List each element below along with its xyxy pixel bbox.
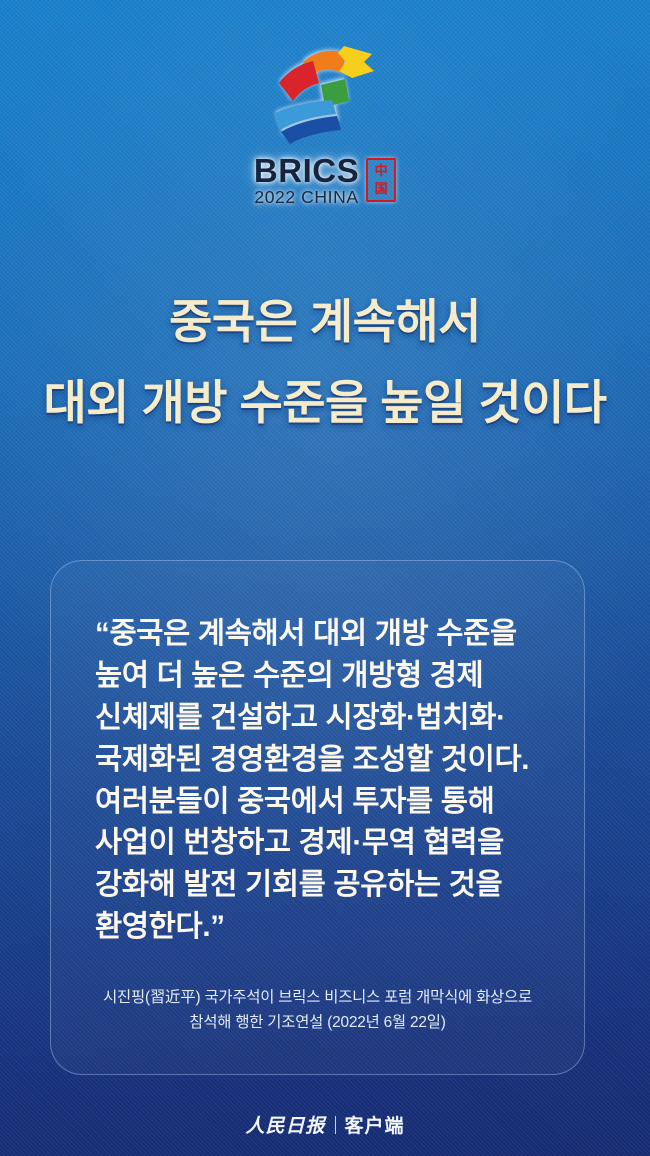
brics-logo: BRICS 2022 CHINA 中 国	[0, 40, 650, 207]
quote-card: “중국은 계속해서 대외 개방 수준을 높여 더 높은 수준의 개방형 경제 신…	[50, 560, 585, 1075]
brics-wordmark-main: BRICS	[254, 154, 359, 187]
quote-attribution-line-2: 참석해 행한 기조연설 (2022년 6월 22일)	[73, 1011, 562, 1036]
headline: 중국은 계속해서 대외 개방 수준을 높일 것이다	[0, 282, 650, 444]
quote-line: 여러분들이 중국에서 투자를 통해	[95, 781, 540, 823]
china-seal-icon: 中 国	[366, 158, 396, 202]
quote-line: 환영한다.”	[95, 906, 540, 948]
quote-attribution: 시진핑(習近平) 국가주석이 브릭스 비즈니스 포럼 개막식에 화상으로 참석해…	[73, 986, 562, 1036]
quote-line: 높여 더 높은 수준의 개방형 경제	[95, 655, 540, 697]
headline-line-1: 중국은 계속해서	[0, 282, 650, 363]
quote-line: 사업이 번창하고 경제·무역 협력을	[95, 822, 540, 864]
china-seal-char-bottom: 国	[375, 183, 388, 196]
quote-line: “중국은 계속해서 대외 개방 수준을	[95, 613, 540, 655]
poster-root: BRICS 2022 CHINA 中 国 중국은 계속해서 대외 개방 수준을 …	[0, 0, 650, 1156]
quote-line: 강화해 발전 기회를 공유하는 것을	[95, 864, 540, 906]
quote-text: “중국은 계속해서 대외 개방 수준을 높여 더 높은 수준의 개방형 경제 신…	[51, 613, 584, 948]
quote-line: 신체제를 건설하고 시장화·법치화·	[95, 697, 540, 739]
headline-line-2: 대외 개방 수준을 높일 것이다	[0, 363, 650, 444]
quote-line: 국제화된 경영환경을 조성할 것이다.	[95, 739, 540, 781]
quote-attribution-line-1: 시진핑(習近平) 국가주석이 브릭스 비즈니스 포럼 개막식에 화상으로	[73, 986, 562, 1011]
china-seal-char-top: 中	[375, 165, 388, 178]
footer-client-name: 客户端	[345, 1111, 405, 1138]
brics-wordmark-subtitle: 2022 CHINA	[254, 189, 359, 207]
footer-divider	[335, 1116, 336, 1134]
brics-emblem-icon	[260, 40, 390, 150]
footer-logo: 人民日报 客户端	[0, 1111, 650, 1138]
brics-wordmark: BRICS 2022 CHINA 中 国	[254, 154, 396, 207]
footer-brand-name: 人民日报	[245, 1111, 325, 1138]
